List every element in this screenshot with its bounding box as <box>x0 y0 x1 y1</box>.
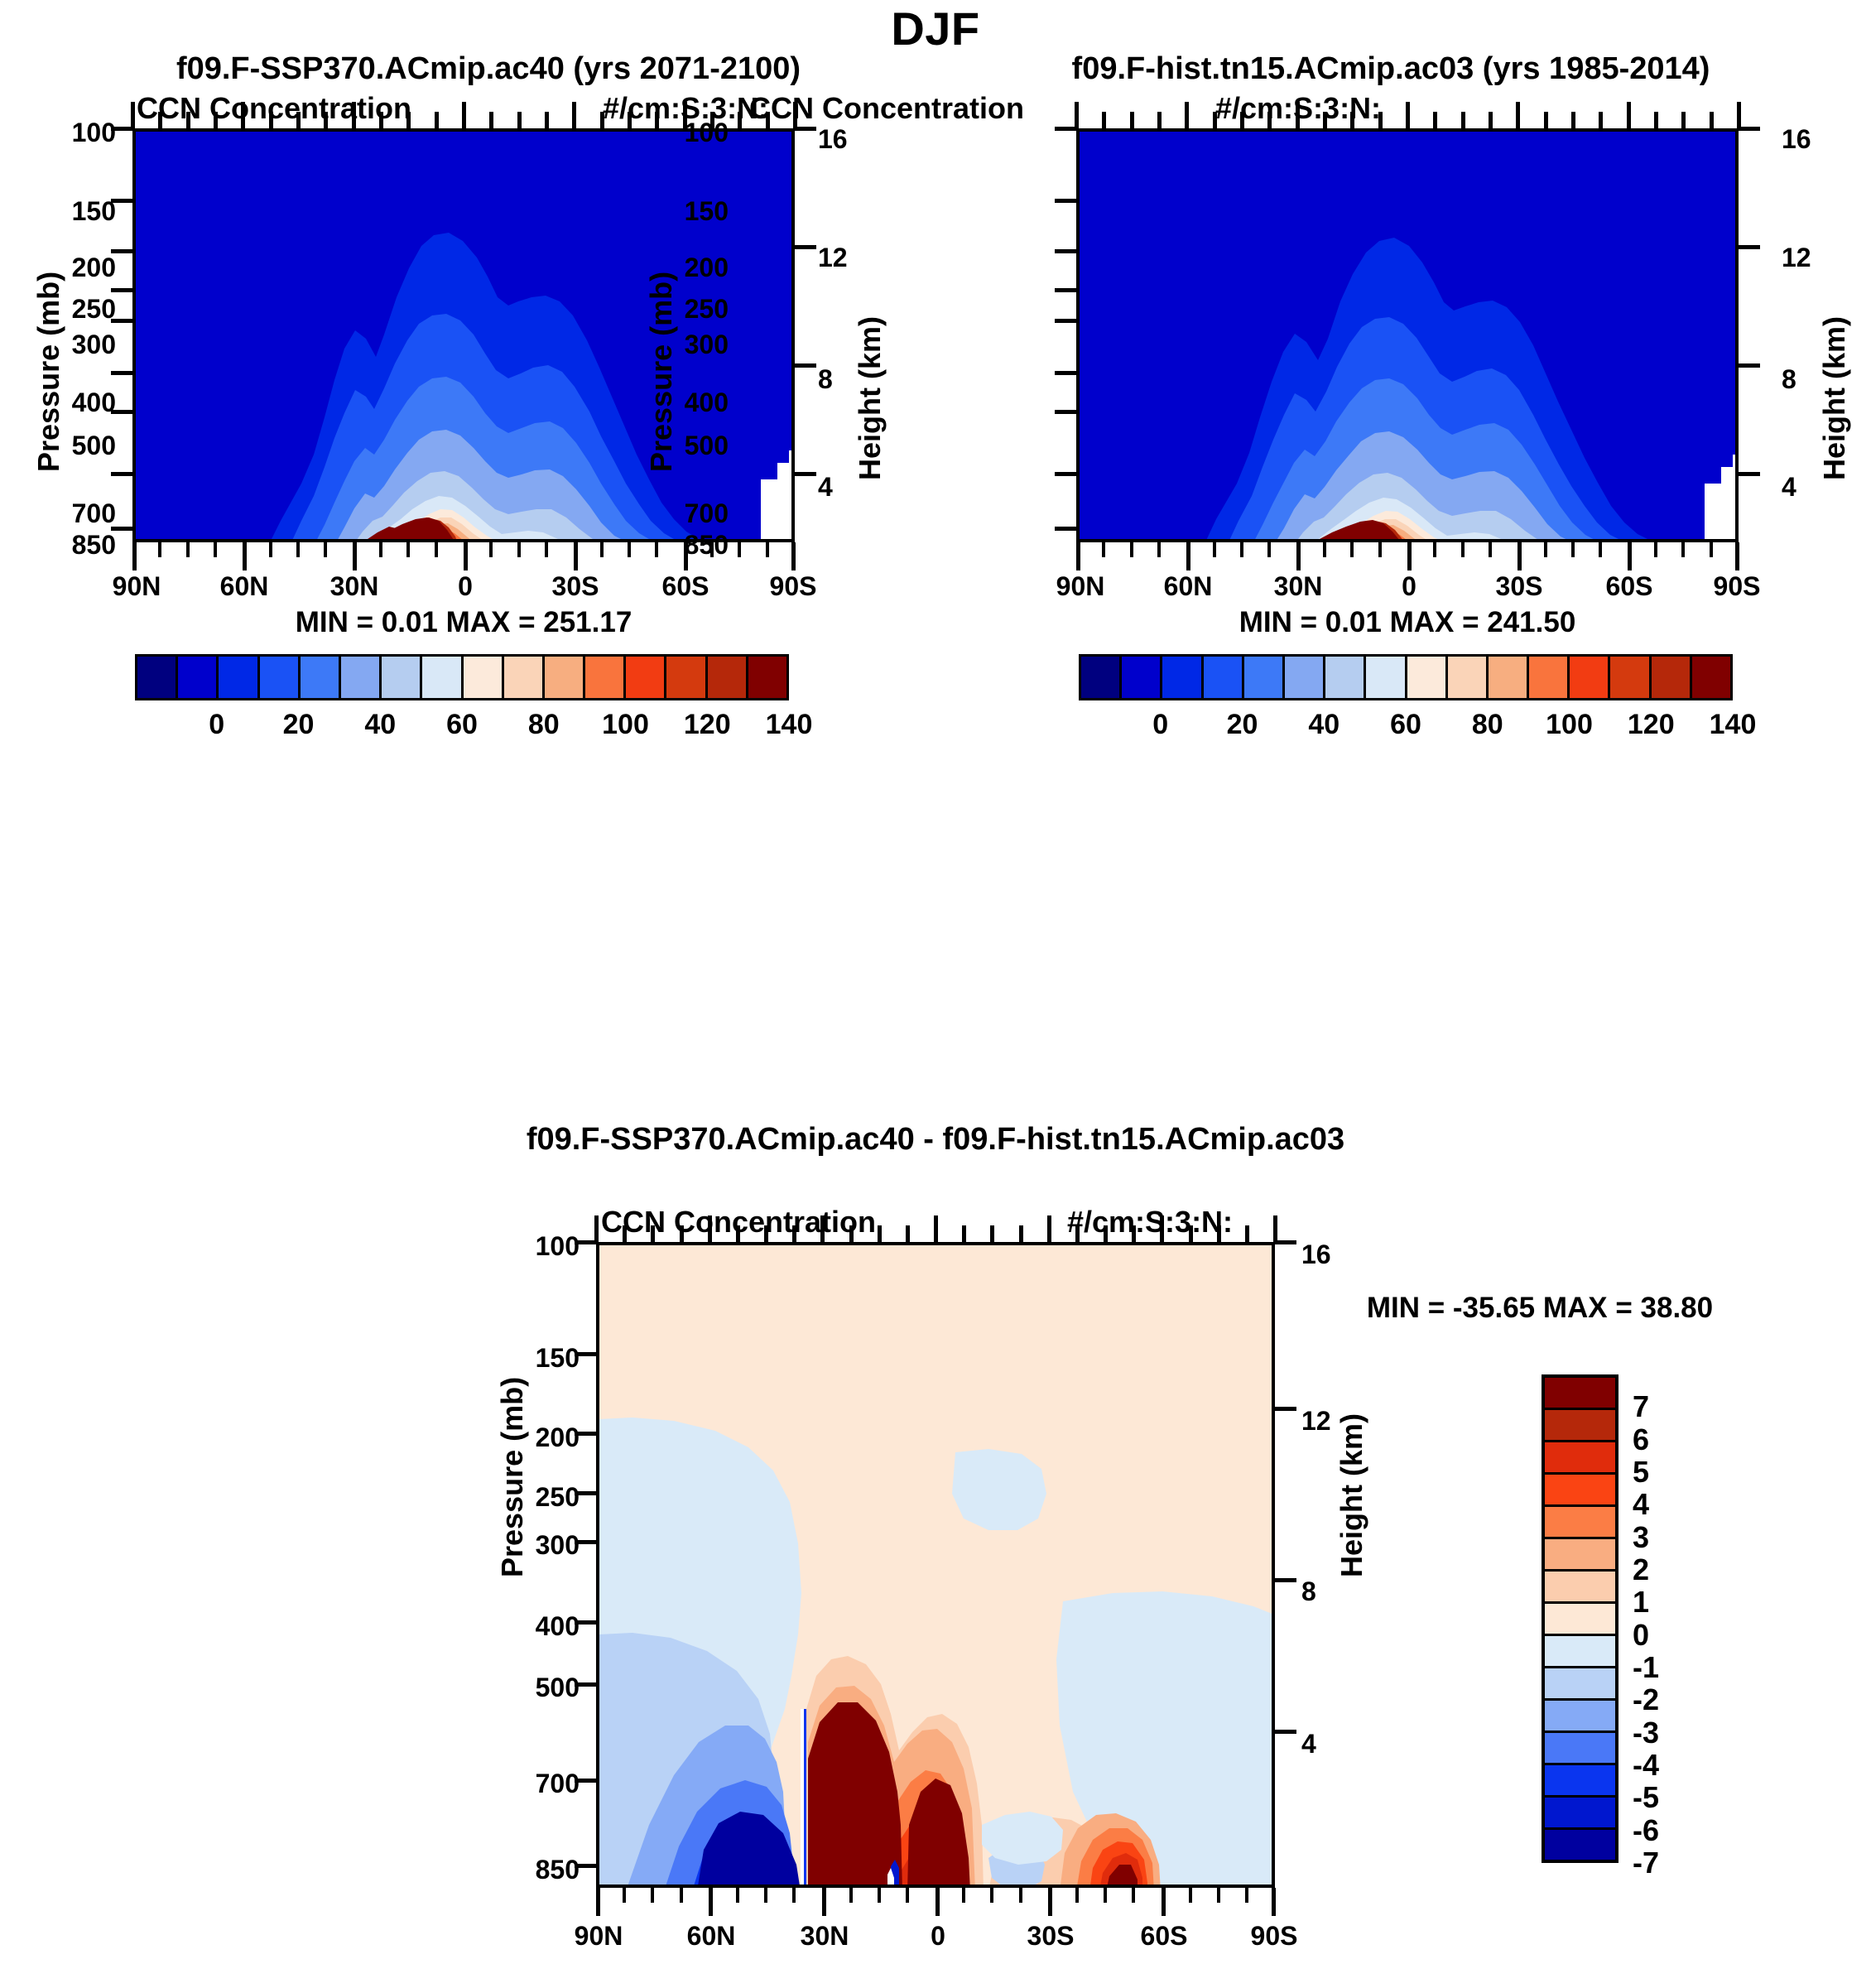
cbar-lab-r-6: 120 <box>1628 709 1675 741</box>
xtick-top-tl-15 <box>545 112 549 128</box>
xtick-30N-top-left: 30N <box>309 571 400 602</box>
xtick-0-bottom: 0 <box>892 1921 984 1952</box>
cbar-swatch-2 <box>219 657 259 698</box>
ylabel-height-top-left: Height (km) <box>853 316 887 480</box>
cbar-lab-r-3: 60 <box>1390 709 1421 741</box>
xtick-major-tr-0 <box>1076 542 1080 570</box>
ytick-left-tr-6 <box>1055 410 1076 414</box>
ytick-500-top-left: 500 <box>25 431 116 461</box>
cbar-swatch-r-1 <box>1122 657 1162 698</box>
xtick-major-tr-6 <box>1735 542 1739 570</box>
cbar-swatch-0 <box>137 657 178 698</box>
cbar-swatch-r-2 <box>1162 657 1203 698</box>
xtick-top-tr-2 <box>1130 112 1134 128</box>
xtick-top-tr-7 <box>1267 112 1272 128</box>
cbar-swatch-12 <box>626 657 666 698</box>
minmax-top-right: MIN = 0.01 MAX = 241.50 <box>1076 606 1739 639</box>
cbar-v-swatch-12 <box>1545 1765 1615 1798</box>
xtick-top-tr-0 <box>1075 102 1079 128</box>
ytick-left-bd-4 <box>575 1540 596 1544</box>
xtick-major-tr-4 <box>1517 542 1522 570</box>
xtick-60S-top-right: 60S <box>1584 571 1675 602</box>
xtick-bot-minor-tl-5 <box>269 542 272 557</box>
cbar-swatch-r-15 <box>1692 657 1730 698</box>
cbar-lab-r-7: 140 <box>1710 709 1757 741</box>
ytick-400-bottom: 400 <box>488 1611 580 1642</box>
xtick-bot-minor-tr-9 <box>1323 542 1326 557</box>
ytick-right-bd-2 <box>1275 1578 1296 1582</box>
cbar-swatch-4 <box>301 657 341 698</box>
panel-varlabel-top-right: CCN Concentration <box>749 91 1024 126</box>
xtick-top-tr-21 <box>1654 112 1658 128</box>
xtick-top-tl-16 <box>572 102 576 128</box>
xtick-top-tr-14 <box>1461 112 1465 128</box>
ytick-300-top-right: 300 <box>637 330 729 360</box>
xtick-top-tr-9 <box>1323 112 1327 128</box>
xtick-top-tl-9 <box>379 112 383 128</box>
xtick-top-bd-15 <box>1019 1225 1023 1242</box>
minmax-bottom-diff: MIN = -35.65 MAX = 38.80 <box>1308 1292 1772 1325</box>
ytick-12km-bottom: 12 <box>1301 1406 1331 1437</box>
cbar-v-swatch-13 <box>1545 1798 1615 1830</box>
xtick-top-tr-6 <box>1240 112 1244 128</box>
ytick-left-tr-1 <box>1055 199 1076 203</box>
xtick-bot-minor-tr-15 <box>1489 542 1492 557</box>
ytick-left-tr-4 <box>1055 319 1076 323</box>
figure-suptitle: DJF <box>0 2 1871 55</box>
xtick-top-tl-4 <box>241 102 245 128</box>
xtick-top-bd-9 <box>849 1225 854 1242</box>
xtick-major-tl-3 <box>464 542 468 570</box>
ytick-left-tr-0 <box>1055 127 1076 131</box>
xtick-top-tl-24 <box>793 102 797 128</box>
xtick-bot-minor-tl-1 <box>158 542 161 557</box>
ytick-left-tr-8 <box>1055 527 1076 531</box>
cbar-v-swatch-6 <box>1545 1572 1615 1604</box>
cbar-v-lab-7: 7 <box>1633 1389 1649 1424</box>
cbar-swatch-15 <box>748 657 786 698</box>
xtick-bot-minor-tl-17 <box>600 542 604 557</box>
xtick-bot-minor-bd-13 <box>962 1888 965 1903</box>
cbar-v-lab-5: 5 <box>1633 1455 1649 1490</box>
ytick-left-bd-5 <box>575 1620 596 1625</box>
cbar-v-lab-m6: -6 <box>1633 1813 1659 1848</box>
xtick-top-tr-1 <box>1102 112 1106 128</box>
ytick-left-tl-8 <box>111 527 132 531</box>
cbar-v-swatch-14 <box>1545 1830 1615 1860</box>
cbar-v-lab-m1: -1 <box>1633 1650 1659 1685</box>
xtick-top-tr-20 <box>1627 102 1631 128</box>
ytick-150-top-left: 150 <box>25 196 116 227</box>
xtick-bot-minor-tr-10 <box>1350 542 1354 557</box>
ytick-200-top-right: 200 <box>637 253 729 283</box>
xtick-bot-minor-tl-13 <box>489 542 493 557</box>
xtick-top-tr-19 <box>1599 112 1603 128</box>
cbar-swatch-r-0 <box>1081 657 1122 698</box>
xtick-top-tl-12 <box>462 102 466 128</box>
xtick-30N-top-right: 30N <box>1253 571 1344 602</box>
xtick-top-bd-13 <box>962 1225 966 1242</box>
xtick-bot-minor-tr-7 <box>1267 542 1271 557</box>
cbar-swatch-10 <box>545 657 585 698</box>
xtick-top-tr-17 <box>1544 112 1548 128</box>
ytick-left-bd-3 <box>575 1491 596 1495</box>
xtick-top-tl-13 <box>489 112 493 128</box>
xtick-major-tl-4 <box>574 542 578 570</box>
xtick-top-tr-4 <box>1185 102 1189 128</box>
ytick-right-tr-2 <box>1739 363 1760 368</box>
cbar-lab-r-2: 40 <box>1308 709 1340 741</box>
colorbar-absolute-left-labels: 0 20 40 60 80 100 120 140 <box>135 709 789 745</box>
xtick-bot-minor-tl-21 <box>710 542 714 557</box>
xtick-bot-minor-tr-14 <box>1461 542 1465 557</box>
ytick-12km-top-right: 12 <box>1782 243 1811 273</box>
cbar-v-swatch-8 <box>1545 1636 1615 1668</box>
xtick-bot-minor-tl-7 <box>324 542 327 557</box>
xtick-top-bd-5 <box>736 1225 740 1242</box>
ytick-left-tl-4 <box>111 319 132 323</box>
xtick-bot-minor-bd-18 <box>1104 1888 1107 1903</box>
xtick-major-bd-3 <box>936 1888 940 1916</box>
cbar-swatch-6 <box>382 657 422 698</box>
xtick-top-tr-5 <box>1213 112 1217 128</box>
xtick-bot-minor-tl-9 <box>379 542 382 557</box>
xtick-bot-minor-tl-11 <box>435 542 438 557</box>
ytick-400-top-left: 400 <box>25 387 116 418</box>
ytick-right-tl-1 <box>795 245 816 249</box>
xtick-major-bd-5 <box>1162 1888 1166 1916</box>
ytick-right-bd-1 <box>1275 1407 1296 1411</box>
ytick-16km-bottom: 16 <box>1301 1239 1331 1270</box>
ytick-850-top-right: 850 <box>637 530 729 561</box>
cbar-lab-r-5: 100 <box>1546 709 1593 741</box>
ytick-100-top-left: 100 <box>25 118 116 148</box>
cbar-swatch-1 <box>178 657 219 698</box>
xtick-bot-minor-bd-10 <box>878 1888 881 1903</box>
xtick-bot-minor-tl-6 <box>296 542 300 557</box>
xtick-major-tl-0 <box>132 542 137 570</box>
ytick-right-bd-3 <box>1275 1730 1296 1734</box>
ytick-850-bottom: 850 <box>488 1855 580 1885</box>
cbar-swatch-r-12 <box>1570 657 1610 698</box>
ytick-700-top-right: 700 <box>637 498 729 529</box>
ytick-200-top-left: 200 <box>25 253 116 283</box>
xtick-top-bd-1 <box>623 1225 627 1242</box>
xtick-30S-bottom: 30S <box>1005 1921 1096 1952</box>
xtick-bot-minor-tl-2 <box>186 542 190 557</box>
xtick-bot-minor-tr-5 <box>1213 542 1216 557</box>
xtick-top-tr-15 <box>1489 112 1493 128</box>
ytick-500-bottom: 500 <box>488 1673 580 1703</box>
xtick-top-tr-13 <box>1433 112 1437 128</box>
cbar-lab-l-5: 100 <box>602 709 649 741</box>
plot-area-bottom-diff[interactable] <box>596 1242 1275 1888</box>
xtick-major-bd-1 <box>709 1888 713 1916</box>
xtick-bot-minor-tr-18 <box>1571 542 1575 557</box>
cbar-swatch-r-13 <box>1610 657 1651 698</box>
xtick-top-bd-11 <box>906 1225 910 1242</box>
xtick-60S-bottom: 60S <box>1118 1921 1210 1952</box>
ytick-left-bd-8 <box>575 1864 596 1868</box>
cbar-lab-l-2: 40 <box>364 709 396 741</box>
xtick-bot-minor-bd-19 <box>1132 1888 1135 1903</box>
ytick-4km-top-right: 4 <box>1782 472 1796 503</box>
cbar-v-lab-m7: -7 <box>1633 1846 1659 1880</box>
xtick-top-bd-21 <box>1189 1225 1193 1242</box>
xtick-major-bd-0 <box>596 1888 600 1916</box>
cbar-v-swatch-1 <box>1545 1410 1615 1442</box>
panel-unitslabel-bottom: #/cm:S:3:N: <box>1067 1205 1233 1239</box>
xtick-bot-minor-tr-3 <box>1157 542 1161 557</box>
cbar-v-lab-m3: -3 <box>1633 1716 1659 1750</box>
xtick-top-tr-8 <box>1296 102 1300 128</box>
xtick-top-tl-22 <box>738 112 742 128</box>
xtick-bot-minor-tr-23 <box>1710 542 1713 557</box>
cbar-lab-l-4: 80 <box>528 709 560 741</box>
ytick-12km-top-left: 12 <box>818 243 848 273</box>
cbar-swatch-7 <box>422 657 463 698</box>
ylabel-height-bottom: Height (km) <box>1335 1413 1369 1577</box>
xtick-top-tl-18 <box>628 112 632 128</box>
xtick-top-tl-10 <box>406 112 411 128</box>
cbar-lab-l-6: 120 <box>684 709 731 741</box>
xtick-90S-bottom: 90S <box>1229 1921 1320 1952</box>
xtick-major-tr-5 <box>1628 542 1632 570</box>
ytick-400-top-right: 400 <box>637 387 729 418</box>
cbar-swatch-r-4 <box>1244 657 1285 698</box>
xtick-bot-minor-tl-14 <box>517 542 521 557</box>
colorbar-absolute-right[interactable] <box>1079 654 1733 700</box>
xtick-top-tr-22 <box>1681 112 1686 128</box>
xtick-top-bd-16 <box>1047 1215 1051 1242</box>
ytick-left-bd-2 <box>575 1432 596 1436</box>
xtick-top-bd-24 <box>1273 1215 1277 1242</box>
xtick-bot-minor-bd-23 <box>1245 1888 1248 1903</box>
xtick-top-bd-8 <box>820 1215 825 1242</box>
cbar-swatch-r-9 <box>1448 657 1489 698</box>
cbar-v-lab-m4: -4 <box>1633 1748 1659 1783</box>
xtick-bot-minor-tl-15 <box>545 542 548 557</box>
cbar-swatch-11 <box>585 657 626 698</box>
xtick-bot-minor-bd-17 <box>1075 1888 1079 1903</box>
ytick-left-bd-0 <box>575 1240 596 1244</box>
cbar-v-swatch-2 <box>1545 1442 1615 1475</box>
xtick-60N-top-left: 60N <box>199 571 290 602</box>
cbar-swatch-5 <box>341 657 382 698</box>
xtick-top-bd-10 <box>878 1225 882 1242</box>
cbar-lab-l-1: 20 <box>283 709 315 741</box>
xtick-30N-bottom: 30N <box>779 1921 870 1952</box>
colorbar-difference[interactable] <box>1542 1374 1618 1863</box>
ytick-8km-top-left: 8 <box>818 364 833 395</box>
xtick-bot-minor-bd-14 <box>990 1888 993 1903</box>
ytick-left-tl-6 <box>111 410 132 414</box>
figure-canvas: DJF f09.F-SSP370.ACmip.ac40 (yrs 2071-21… <box>0 0 1871 1988</box>
ytick-16km-top-left: 16 <box>818 124 848 155</box>
contour-field-top-right <box>1080 132 1739 542</box>
xtick-bot-minor-tr-22 <box>1681 542 1685 557</box>
xtick-top-bd-22 <box>1217 1225 1221 1242</box>
xtick-top-tl-3 <box>214 112 218 128</box>
cbar-v-lab-1: 1 <box>1633 1585 1649 1620</box>
ytick-250-bottom: 250 <box>488 1482 580 1513</box>
xtick-top-bd-17 <box>1075 1225 1080 1242</box>
xtick-major-tr-3 <box>1407 542 1412 570</box>
ytick-700-bottom: 700 <box>488 1769 580 1799</box>
cbar-lab-l-0: 0 <box>209 709 224 741</box>
xtick-top-tl-5 <box>269 112 273 128</box>
xtick-top-tr-18 <box>1571 112 1575 128</box>
xtick-90N-bottom: 90N <box>553 1921 644 1952</box>
xtick-60N-top-right: 60N <box>1142 571 1234 602</box>
xtick-bot-minor-bd-22 <box>1217 1888 1220 1903</box>
cbar-v-swatch-11 <box>1545 1733 1615 1765</box>
xtick-major-bd-4 <box>1048 1888 1052 1916</box>
cbar-swatch-r-6 <box>1325 657 1366 698</box>
cbar-swatch-r-11 <box>1529 657 1570 698</box>
cbar-swatch-r-14 <box>1652 657 1692 698</box>
ytick-100-bottom: 100 <box>488 1231 580 1262</box>
xtick-major-bd-6 <box>1272 1888 1276 1916</box>
cbar-swatch-13 <box>666 657 707 698</box>
xtick-major-tl-1 <box>243 542 247 570</box>
xtick-bot-minor-bd-5 <box>736 1888 739 1903</box>
xtick-bot-minor-bd-6 <box>764 1888 767 1903</box>
xtick-60N-bottom: 60N <box>666 1921 757 1952</box>
xtick-0-top-left: 0 <box>420 571 511 602</box>
xtick-90N-top-right: 90N <box>1035 571 1126 602</box>
xtick-top-bd-18 <box>1104 1225 1108 1242</box>
xtick-top-tl-19 <box>655 112 659 128</box>
xtick-top-bd-14 <box>990 1225 994 1242</box>
xtick-top-tl-2 <box>186 112 190 128</box>
xtick-top-tl-11 <box>435 112 439 128</box>
xtick-bot-minor-tl-23 <box>766 542 769 557</box>
xtick-top-tl-8 <box>352 102 356 128</box>
minmax-top-left: MIN = 0.01 MAX = 251.17 <box>132 606 795 639</box>
xtick-bot-minor-tr-13 <box>1433 542 1436 557</box>
xtick-bot-minor-tl-3 <box>214 542 217 557</box>
cbar-swatch-r-7 <box>1366 657 1407 698</box>
colorbar-absolute-right-labels: 0 20 40 60 80 100 120 140 <box>1079 709 1733 745</box>
ytick-right-tr-1 <box>1739 245 1760 249</box>
ytick-left-tl-7 <box>111 472 132 476</box>
xtick-30S-top-left: 30S <box>530 571 621 602</box>
cbar-swatch-14 <box>708 657 748 698</box>
ytick-left-tl-2 <box>111 249 132 253</box>
ytick-right-tl-0 <box>795 127 816 131</box>
xtick-major-bd-2 <box>822 1888 826 1916</box>
xtick-top-tl-17 <box>600 112 604 128</box>
xtick-90S-top-right: 90S <box>1691 571 1782 602</box>
xtick-top-tr-10 <box>1350 112 1354 128</box>
ytick-500-top-right: 500 <box>637 431 729 461</box>
xtick-top-tl-7 <box>324 112 328 128</box>
xtick-bot-minor-bd-21 <box>1189 1888 1192 1903</box>
ytick-left-tl-5 <box>111 371 132 375</box>
panel-varlabel-top-left: CCN Concentration <box>137 91 411 126</box>
cbar-v-lab-m2: -2 <box>1633 1682 1659 1717</box>
xtick-bot-minor-tr-21 <box>1654 542 1657 557</box>
xtick-top-tr-12 <box>1406 102 1410 128</box>
ytick-8km-top-right: 8 <box>1782 364 1796 395</box>
ytick-left-tr-7 <box>1055 472 1076 476</box>
ytick-right-tl-3 <box>795 472 816 476</box>
xtick-bot-minor-bd-9 <box>849 1888 853 1903</box>
xtick-top-bd-7 <box>792 1225 796 1242</box>
cbar-v-swatch-7 <box>1545 1604 1615 1636</box>
xtick-top-bd-23 <box>1245 1225 1249 1242</box>
ytick-right-bd-0 <box>1275 1240 1296 1244</box>
ytick-16km-top-right: 16 <box>1782 124 1811 155</box>
cbar-swatch-8 <box>464 657 504 698</box>
ytick-700-top-left: 700 <box>25 498 116 529</box>
ytick-left-bd-7 <box>575 1779 596 1783</box>
xtick-bot-minor-bd-2 <box>651 1888 654 1903</box>
xtick-0-top-right: 0 <box>1364 571 1455 602</box>
xtick-major-tl-6 <box>791 542 796 570</box>
ytick-150-top-right: 150 <box>637 196 729 227</box>
ytick-right-tr-3 <box>1739 472 1760 476</box>
xtick-top-tl-23 <box>766 112 770 128</box>
xtick-30S-top-right: 30S <box>1474 571 1565 602</box>
ytick-left-tr-3 <box>1055 288 1076 292</box>
panel-title-top-right: f09.F-hist.tn15.ACmip.ac03 (yrs 1985-201… <box>936 51 1846 87</box>
ytick-300-top-left: 300 <box>25 330 116 360</box>
ytick-4km-top-left: 4 <box>818 472 833 503</box>
xtick-top-bd-19 <box>1132 1225 1136 1242</box>
ytick-150-bottom: 150 <box>488 1343 580 1374</box>
cbar-v-lab-0: 0 <box>1633 1618 1649 1653</box>
xtick-top-bd-4 <box>708 1215 712 1242</box>
xtick-bot-minor-tr-1 <box>1102 542 1105 557</box>
xtick-bot-minor-tl-10 <box>406 542 410 557</box>
plot-area-top-right[interactable] <box>1076 128 1739 542</box>
ytick-left-bd-6 <box>575 1682 596 1687</box>
ytick-left-tr-5 <box>1055 371 1076 375</box>
xtick-top-tr-16 <box>1516 102 1520 128</box>
xtick-major-tl-2 <box>353 542 357 570</box>
xtick-top-bd-20 <box>1160 1215 1164 1242</box>
xtick-top-bd-6 <box>764 1225 768 1242</box>
cbar-v-lab-2: 2 <box>1633 1552 1649 1587</box>
ytick-left-tl-1 <box>111 199 132 203</box>
cbar-v-lab-m5: -5 <box>1633 1780 1659 1815</box>
cbar-lab-r-0: 0 <box>1152 709 1168 741</box>
ytick-200-bottom: 200 <box>488 1422 580 1453</box>
ytick-right-tr-0 <box>1739 127 1760 131</box>
cbar-v-swatch-9 <box>1545 1668 1615 1701</box>
xtick-90N-top-left: 90N <box>91 571 182 602</box>
ytick-250-top-right: 250 <box>637 294 729 325</box>
ytick-300-bottom: 300 <box>488 1530 580 1561</box>
ytick-left-tl-0 <box>111 127 132 131</box>
cbar-swatch-3 <box>260 657 301 698</box>
xtick-top-tl-14 <box>517 112 522 128</box>
ytick-250-top-left: 250 <box>25 294 116 325</box>
ytick-right-tl-2 <box>795 363 816 368</box>
xtick-bot-minor-bd-15 <box>1019 1888 1022 1903</box>
xtick-top-tr-23 <box>1710 112 1714 128</box>
xtick-top-tl-21 <box>710 112 714 128</box>
xtick-top-tr-3 <box>1157 112 1162 128</box>
xtick-bot-minor-bd-1 <box>623 1888 626 1903</box>
ylabel-height-top-right: Height (km) <box>1817 316 1852 480</box>
colorbar-absolute-left[interactable] <box>135 654 789 700</box>
ytick-left-tr-2 <box>1055 249 1076 253</box>
cbar-v-swatch-0 <box>1545 1378 1615 1410</box>
ytick-left-tl-3 <box>111 288 132 292</box>
